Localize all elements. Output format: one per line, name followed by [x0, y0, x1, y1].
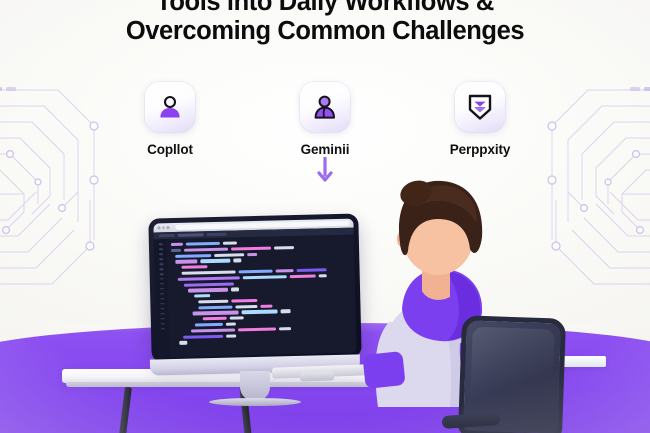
tool-card-copilot[interactable]: Copllot	[118, 82, 222, 157]
tool-label: Geminii	[301, 142, 350, 157]
shield-chevron-icon	[467, 93, 493, 121]
code-editor-dark	[154, 235, 357, 358]
user-outline-icon	[157, 94, 183, 120]
monitor-stand-neck	[240, 371, 270, 401]
desktop-monitor	[150, 216, 360, 373]
user-filled-icon	[312, 94, 338, 120]
ai-tool-row: Copllot Geminii	[0, 82, 650, 157]
editor-tab[interactable]	[207, 233, 227, 236]
code-lines[interactable]	[167, 235, 357, 358]
headline-line-2: Overcoming Common Challenges	[0, 17, 650, 46]
monitor-screen	[148, 213, 361, 362]
headline-line-1: Tools into Daily Workflows &	[0, 0, 650, 17]
headline: Tools into Daily Workflows & Overcoming …	[0, 0, 650, 46]
trackpad[interactable]	[300, 371, 334, 381]
monitor-stand-foot	[209, 398, 301, 406]
illustration-canvas: Tools into Daily Workflows & Overcoming …	[0, 0, 650, 433]
tool-card-perplexity[interactable]: Perppxity	[428, 82, 532, 157]
editor-tab[interactable]	[178, 233, 204, 237]
editor-tab[interactable]	[159, 234, 175, 237]
tool-label: Perppxity	[450, 142, 511, 157]
tool-card-gemini[interactable]: Geminii	[273, 82, 377, 157]
window-dot	[167, 226, 170, 229]
window-dot	[157, 227, 160, 230]
tool-tile[interactable]	[300, 82, 350, 132]
tool-label: Copllot	[147, 142, 193, 157]
tool-tile[interactable]	[455, 82, 505, 132]
arrow-down-icon	[317, 157, 333, 188]
tool-tile[interactable]	[145, 82, 195, 132]
window-dot	[162, 226, 165, 229]
